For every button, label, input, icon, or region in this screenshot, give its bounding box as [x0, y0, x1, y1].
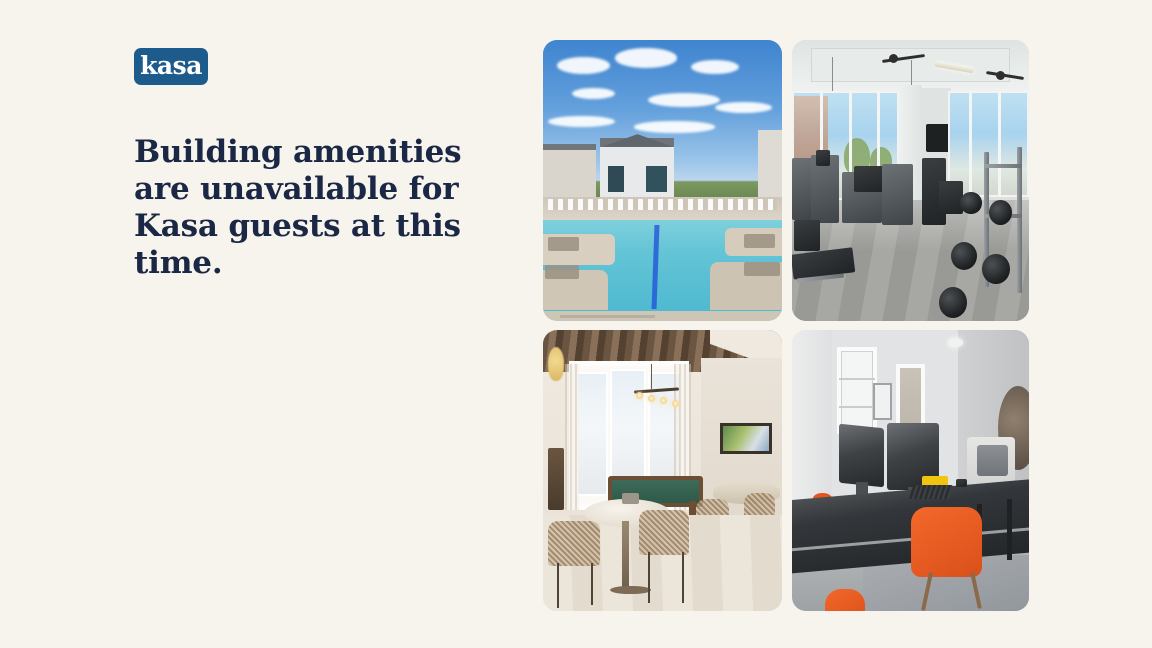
window-mullion	[998, 91, 1001, 198]
desk-leg	[1007, 499, 1012, 561]
amenity-photo-grid	[543, 40, 1019, 602]
throw-pillow	[977, 445, 1008, 476]
keyboard	[908, 485, 953, 499]
kasa-logo-text: kasa	[140, 53, 202, 80]
amenities-notice-slide: kasa Building amenities are unavailable …	[0, 0, 1152, 648]
amenity-photo-fitness-center	[792, 40, 1029, 321]
lounge-chair	[548, 237, 579, 251]
window-pane	[576, 372, 607, 496]
weight-bench	[939, 181, 963, 215]
cloud-shape	[691, 60, 739, 74]
cloud-shape	[548, 116, 615, 127]
game-lounge-image	[543, 330, 782, 611]
plyo-box	[794, 220, 820, 251]
pool-cue-rack	[548, 448, 565, 510]
pendant-wire	[832, 57, 833, 94]
recessed-ceiling-light	[948, 338, 962, 346]
photo-watermark	[560, 315, 656, 318]
chandelier-bulb	[648, 395, 655, 402]
wicker-chair	[548, 521, 601, 566]
clubhouse-window	[608, 166, 625, 191]
message-column: kasa Building amenities are unavailable …	[134, 48, 494, 282]
sheer-curtain	[565, 364, 579, 510]
cloud-shape	[615, 48, 677, 68]
fitness-center-image	[792, 40, 1029, 321]
cabinet-shelf	[839, 378, 875, 380]
lounge-chair	[545, 265, 578, 279]
orange-chair	[911, 507, 982, 577]
chandelier-rod	[651, 364, 652, 389]
chair-leg	[648, 552, 650, 603]
wall-sconce	[548, 347, 565, 381]
orange-chair	[825, 589, 865, 611]
cloud-shape	[715, 102, 772, 113]
cloud-shape	[634, 121, 715, 132]
glass-cabinet	[837, 347, 877, 434]
machine-console	[816, 150, 830, 167]
power-rack-crossbar	[984, 164, 1022, 168]
chair-leg	[682, 552, 684, 603]
amenity-photo-business-center	[792, 330, 1029, 611]
window-mullion	[969, 91, 972, 198]
cloud-shape	[572, 88, 615, 99]
clubhouse-window	[646, 166, 668, 191]
table-pedestal	[622, 521, 629, 588]
building-left	[543, 144, 596, 197]
building-right	[758, 130, 782, 197]
table-centerpiece	[622, 493, 639, 504]
weight-plate	[960, 192, 981, 214]
cabinet-shelf	[839, 406, 875, 408]
wicker-chair	[639, 510, 689, 555]
table-base	[610, 586, 651, 594]
chair-leg	[557, 563, 559, 608]
computer-mouse	[956, 479, 968, 487]
selectorized-machine	[882, 164, 913, 226]
power-rack-post	[1017, 147, 1022, 293]
kasa-logo: kasa	[134, 48, 208, 85]
amenity-photo-game-lounge	[543, 330, 782, 611]
business-center-image	[792, 330, 1029, 611]
framed-poster	[873, 383, 892, 420]
chair-leg	[591, 563, 593, 605]
lounge-chair	[744, 262, 780, 276]
chandelier-bulb	[636, 392, 643, 399]
amenity-photo-pool	[543, 40, 782, 321]
page-title: Building amenities are unavailable for K…	[134, 134, 474, 282]
lounge-chair-row	[548, 199, 777, 210]
imac-monitor	[839, 423, 884, 487]
wall-artwork	[720, 423, 773, 454]
lounge-chair	[744, 234, 775, 248]
cloud-shape	[557, 57, 610, 74]
pool-image	[543, 40, 782, 321]
